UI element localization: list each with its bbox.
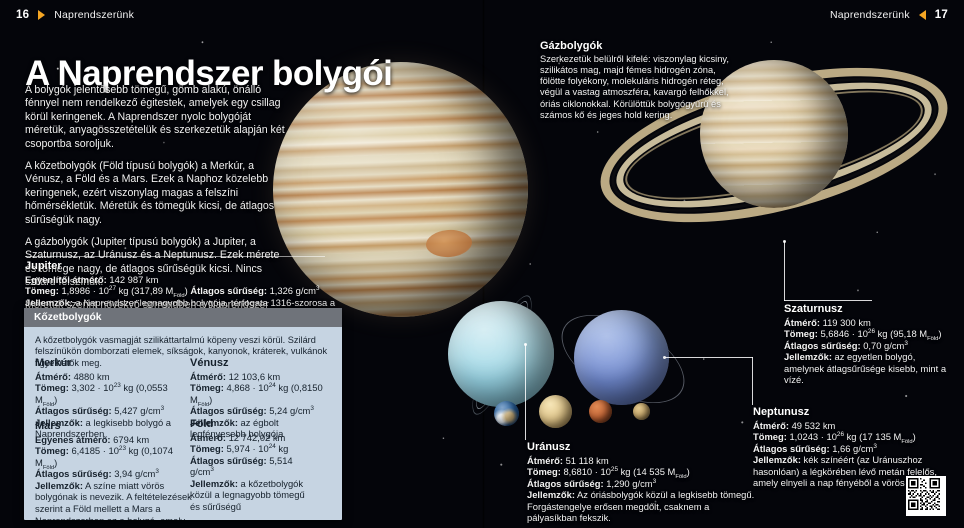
venus-mass-close: ) (209, 394, 212, 405)
venus-mass-label: Tömeg: (190, 382, 224, 393)
uranus-traits-label: Jellemzők: (527, 489, 575, 500)
saturn-mass-close: ) (938, 328, 941, 339)
mercury-diameter-value: 4880 km (74, 371, 110, 382)
saturn-leader-horizontal (784, 300, 872, 301)
uranus-mass-close: ) (687, 466, 690, 477)
mars-mass-line: Tömeg: 6,4185 · 1023 kg (0,1074 MFöld) (35, 445, 195, 468)
jupiter-diameter-label: Egyenlítői átmérő: (25, 274, 107, 285)
saturn-mass-mantissa: 5,6846 · 10 (820, 328, 867, 339)
neptune-mass-close: ) (913, 431, 916, 442)
mars-traits-label: Jellemzők: (35, 480, 83, 491)
mars-mass-label: Tömeg: (35, 445, 69, 456)
uranus-mass-exponent: 25 (611, 466, 618, 473)
gas-giants-note-title: Gázbolygók (540, 40, 730, 52)
mercury-mass-close: ) (54, 394, 57, 405)
earth-diameter-line: Átmérő: 12 742,02 km (190, 432, 308, 444)
neptune-diameter-line: Átmérő: 49 532 km (753, 420, 953, 432)
mercury-scale-image (633, 403, 650, 420)
mars-mass-mantissa: 6,4185 · 10 (71, 445, 118, 456)
neptune-density-label: Átlagos sűrűség: (753, 443, 830, 454)
runhead-left-label: Naprendszerünk (54, 9, 134, 21)
mars-density-line: Átlagos sűrűség: 3,94 g/cm3 (35, 468, 195, 480)
rocky-panel-header: Kőzetbolygók (24, 308, 342, 327)
runhead-right-label: Naprendszerünk (830, 9, 910, 21)
mars-mass-exponent: 23 (119, 445, 126, 452)
earth-scale-image (494, 401, 519, 426)
saturn-diameter-value: 119 300 km (823, 317, 871, 328)
uranus-density-exponent: 3 (653, 478, 657, 485)
earth-diameter-value: 12 742,02 km (229, 432, 286, 443)
earth-diameter-label: Átmérő: (190, 432, 226, 443)
saturn-mass-exponent: 26 (868, 328, 875, 335)
folio-right: 17 (935, 9, 948, 21)
mercury-name: Merkúr (35, 357, 185, 369)
uranus-mass-tail: kg (14 535 M (618, 466, 675, 477)
neptune-leader-horizontal (665, 357, 753, 358)
folio-left: 16 (16, 9, 29, 21)
mars-diameter-line: Egyenes átmérő: 6794 km (35, 434, 195, 446)
venus-mass-line: Tömeg: 4,868 · 1024 kg (0,8150 MFöld) (190, 382, 336, 405)
saturn-fact-block: Szaturnusz Átmérő: 119 300 km Tömeg: 5,6… (784, 303, 956, 386)
earth-mass-label: Tömeg: (190, 443, 224, 454)
earth-mass-mantissa: 5,974 · 10 (226, 443, 268, 454)
uranus-leader-vertical (525, 344, 526, 440)
uranus-density-label: Átlagos sűrűség: (527, 478, 604, 489)
neptune-density-exponent: 3 (873, 443, 877, 450)
jupiter-mass-label: Tömeg: (25, 285, 59, 296)
runhead-left: 16 Naprendszerünk (16, 9, 134, 21)
venus-scale-image (539, 395, 572, 428)
qr-code-icon (908, 478, 940, 510)
saturn-density-exponent: 3 (904, 340, 908, 347)
qr-code[interactable] (906, 476, 946, 516)
saturn-mass-label: Tömeg: (784, 328, 818, 339)
jupiter-name: Jupiter (25, 260, 337, 272)
earth-name: Föld (190, 418, 308, 430)
jupiter-diameter-line: Egyenlítői átmérő: 142 987 km (25, 274, 337, 286)
mercury-density-label: Átlagos sűrűség: (35, 405, 112, 416)
gas-giants-note: Gázbolygók Szerkezetük belülről kifelé: … (540, 40, 730, 121)
neptune-leader-vertical (752, 357, 753, 405)
neptune-planet-image (574, 310, 669, 405)
uranus-traits-line: Jellemzők: Az óriásbolygók közül a legki… (527, 489, 759, 524)
earth-traits-label: Jellemzők: (190, 478, 238, 489)
mercury-diameter-label: Átmérő: (35, 371, 71, 382)
venus-diameter-value: 12 103,6 km (229, 371, 281, 382)
neptune-mass-tail: kg (17 135 M (844, 431, 901, 442)
mercury-diameter-line: Átmérő: 4880 km (35, 371, 185, 383)
mercury-mass-line: Tömeg: 3,302 · 1023 kg (0,0553 MFöld) (35, 382, 185, 405)
venus-mass-exponent: 24 (269, 382, 276, 389)
mercury-mass-exponent: 23 (114, 382, 121, 389)
saturn-leader-vertical (784, 241, 785, 301)
venus-name: Vénusz (190, 357, 336, 369)
venus-density-line: Átlagos sűrűség: 5,24 g/cm3 (190, 405, 336, 417)
jupiter-traits-label: Jellemzők: (25, 297, 73, 308)
saturn-mass-tail: kg (95,18 M (875, 328, 927, 339)
rocky-planets-panel: Kőzetbolygók A kőzetbolygók vasmagját sz… (24, 308, 342, 520)
rocky-panel-title: Kőzetbolygók (34, 312, 102, 323)
jupiter-diameter-value: 142 987 km (109, 274, 158, 285)
saturn-density-label: Átlagos sűrűség: (784, 340, 861, 351)
saturn-mass-line: Tömeg: 5,6846 · 1026 kg (95,18 MFöld) (784, 328, 956, 340)
uranus-mass-mantissa: 8,6810 · 10 (563, 466, 610, 477)
mars-density-exponent: 3 (155, 468, 159, 475)
spread-page: 16 Naprendszerünk Naprendszerünk 17 A Na… (0, 0, 964, 528)
saturn-density-value: 0,70 g/cm (863, 340, 904, 351)
earth-mass-exponent: 24 (269, 443, 276, 450)
neptune-diameter-value: 49 532 km (792, 420, 836, 431)
mars-traits-line: Jellemzők: A színe miatt vörös bolygónak… (35, 480, 195, 520)
earth-mass-line: Tömeg: 5,974 · 1024 kg (190, 443, 308, 455)
earth-density-label: Átlagos sűrűség: (190, 455, 267, 466)
mars-density-label: Átlagos sűrűség: (35, 468, 112, 479)
neptune-traits-label: Jellemzők: (753, 454, 801, 465)
triangle-right-icon (38, 10, 45, 20)
neptune-diameter-label: Átmérő: (753, 420, 789, 431)
mars-scale-image (589, 400, 612, 423)
jupiter-density-exponent: 3 (316, 285, 320, 292)
uranus-mass-label: Tömeg: (527, 466, 561, 477)
uranus-mass-subscript: Föld (675, 474, 686, 480)
intro-paragraph-1: A bolygók jelentősebb tömegű, gömb alakú… (25, 84, 293, 151)
uranus-diameter-value: 51 118 km (566, 455, 609, 466)
mercury-density-exponent: 3 (161, 405, 165, 412)
gas-giants-note-text: Szerkezetük belülről kifelé: viszonylag … (540, 54, 730, 122)
saturn-diameter-label: Átmérő: (784, 317, 820, 328)
mars-density-value: 3,94 g/cm (114, 468, 155, 479)
mercury-density-line: Átlagos sűrűség: 5,427 g/cm3 (35, 405, 185, 417)
neptune-name: Neptunusz (753, 406, 953, 418)
uranus-leader-dot (524, 343, 527, 346)
jupiter-density-value: 1,326 g/cm (270, 285, 316, 296)
mars-mass-close: ) (54, 457, 57, 468)
mercury-mass-label: Tömeg: (35, 382, 69, 393)
neptune-mass-mantissa: 1,0243 · 10 (789, 431, 836, 442)
uranus-name: Uránusz (527, 441, 759, 453)
mercury-density-value: 5,427 g/cm (114, 405, 160, 416)
saturn-traits-line: Jellemzők: az egyetlen bolygó, amelynek … (784, 351, 956, 386)
intro-paragraph-2: A kőzetbolygók (Föld típusú bolygók) a M… (25, 160, 293, 227)
saturn-traits-label: Jellemzők: (784, 351, 832, 362)
jupiter-mass-density-line: Tömeg: 1,8986 · 1027 kg (317,89 MFöld) Á… (25, 285, 337, 297)
jupiter-mass-close: ) (185, 285, 188, 296)
venus-density-value: 5,24 g/cm (269, 405, 310, 416)
uranus-diameter-line: Átmérő: 51 118 km (527, 455, 759, 467)
saturn-leader-dot (783, 240, 786, 243)
saturn-name: Szaturnusz (784, 303, 956, 315)
uranus-fact-block: Uránusz Átmérő: 51 118 km Tömeg: 8,6810 … (527, 441, 759, 524)
venus-mass-mantissa: 4,868 · 10 (226, 382, 268, 393)
runhead-right: Naprendszerünk 17 (830, 9, 948, 21)
neptune-density-value: 1,66 g/cm (832, 443, 873, 454)
venus-diameter-line: Átmérő: 12 103,6 km (190, 371, 336, 383)
jupiter-divider-top (25, 256, 325, 257)
neptune-density-line: Átlagos sűrűség: 1,66 g/cm3 (753, 443, 953, 455)
venus-density-label: Átlagos sűrűség: (190, 405, 267, 416)
earth-density-exponent: 3 (210, 466, 214, 473)
earth-fact-block: Föld Átmérő: 12 742,02 km Tömeg: 5,974 ·… (190, 418, 308, 513)
neptune-mass-subscript: Föld (901, 439, 912, 445)
mars-fact-block: Mars Egyenes átmérő: 6794 km Tömeg: 6,41… (35, 420, 195, 520)
uranus-density-line: Átlagos sűrűség: 1,290 g/cm3 (527, 478, 759, 490)
venus-density-exponent: 3 (310, 405, 314, 412)
uranus-mass-line: Tömeg: 8,6810 · 1025 kg (14 535 MFöld) (527, 466, 759, 478)
neptune-leader-dot (663, 356, 666, 359)
triangle-left-icon (919, 10, 926, 20)
uranus-density-value: 1,290 g/cm (606, 478, 652, 489)
jupiter-density-label: Átlagos sűrűség: (190, 285, 267, 296)
mercury-mass-mantissa: 3,302 · 10 (71, 382, 113, 393)
neptune-mass-line: Tömeg: 1,0243 · 1026 kg (17 135 MFöld) (753, 431, 953, 443)
uranus-diameter-label: Átmérő: (527, 455, 563, 466)
mars-diameter-value: 6794 km (113, 434, 149, 445)
jupiter-mass-mantissa: 1,8986 · 10 (61, 285, 108, 296)
great-red-spot (425, 229, 473, 259)
mars-name: Mars (35, 420, 195, 432)
earth-mass-tail: kg (276, 443, 289, 454)
uranus-planet-image (448, 301, 554, 407)
saturn-mass-subscript: Föld (927, 336, 938, 342)
saturn-diameter-line: Átmérő: 119 300 km (784, 317, 956, 329)
jupiter-mass-exponent: 27 (109, 285, 116, 292)
venus-diameter-label: Átmérő: (190, 371, 226, 382)
jupiter-mass-tail: kg (317,89 M (116, 285, 173, 296)
neptune-mass-exponent: 26 (837, 431, 844, 438)
earth-traits-line: Jellemzők: a kőzetbolygók közül a legnag… (190, 478, 308, 513)
earth-density-line: Átlagos sűrűség: 5,514 g/cm3 (190, 455, 308, 478)
mars-diameter-label: Egyenes átmérő: (35, 434, 111, 445)
